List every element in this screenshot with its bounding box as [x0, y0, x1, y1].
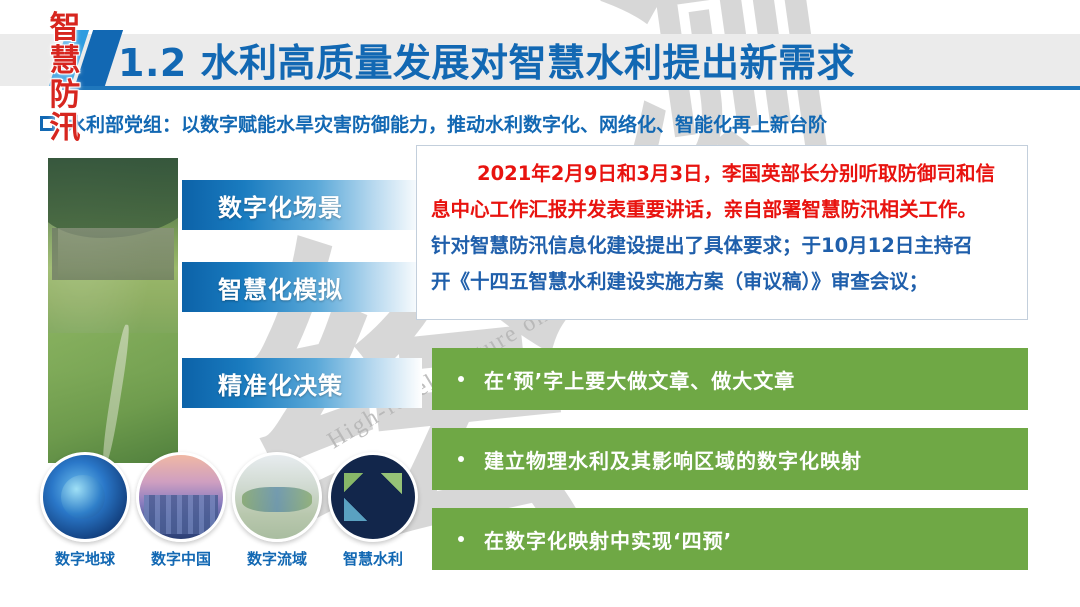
circle-label-3: 数字流域: [232, 548, 322, 574]
announcement-line-2: 息中心工作汇报并发表重要讲话，亲自部署智慧防汛相关工作。: [431, 192, 1015, 228]
blue-bar-label-2: 智慧化模拟: [218, 270, 343, 305]
title-underline: [62, 86, 1080, 90]
green-bar-2[interactable]: 建立物理水利及其影响区域的数字化映射: [432, 428, 1028, 490]
circle-label-4: 智慧水利: [328, 548, 418, 574]
circle-label-2: 数字中国: [136, 548, 226, 574]
photo-caption: 智 慧 防 汛: [0, 12, 130, 146]
green-bar-label-3: 在数字化映射中实现‘四预’: [484, 525, 732, 554]
blue-bar-digital-scene[interactable]: 数字化场景: [182, 180, 422, 230]
announcement-textbox: 2021年2月9日和3月3日，李国英部长分别听取防御司和信 息中心工作汇报并发表…: [416, 145, 1028, 320]
blue-bar-label-3: 精准化决策: [218, 366, 343, 401]
circle-label-row: 数字地球 数字中国 数字流域 智慧水利: [40, 548, 420, 574]
digital-china-city-icon: [136, 452, 226, 542]
bullet-dot-icon: [458, 376, 464, 382]
page-title: 1.2 水利高质量发展对智慧水利提出新需求: [118, 32, 855, 87]
announcement-line-1: 2021年2月9日和3月3日，李国英部长分别听取防御司和信: [431, 156, 1015, 192]
green-bar-label-2: 建立物理水利及其影响区域的数字化映射: [484, 445, 862, 474]
photo-caption-char-4: 汛: [0, 112, 130, 145]
bullet-dot-icon: [458, 536, 464, 542]
subtitle-text: 水利部党组：以数字赋能水旱灾害防御能力，推动水利数字化、网络化、智能化再上新台阶: [67, 110, 827, 137]
blue-bar-smart-simulation[interactable]: 智慧化模拟: [182, 262, 422, 312]
photo-caption-char-3: 防: [0, 79, 130, 112]
slide-canvas: 测 绘 High-level Lecture on Surveying and …: [0, 0, 1080, 607]
photo-village: [52, 228, 174, 280]
circle-label-1: 数字地球: [40, 548, 130, 574]
photo-hill: [48, 158, 178, 238]
smart-water-icon: [328, 452, 418, 542]
green-bar-1[interactable]: 在‘预’字上要大做文章、做大文章: [432, 348, 1028, 410]
announcement-line-4: 开《十四五智慧水利建设实施方案（审议稿）》审查会议；: [431, 264, 1015, 300]
photo-caption-char-1: 智: [0, 12, 130, 45]
bullet-dot-icon: [458, 456, 464, 462]
subtitle-row: 水利部党组：以数字赋能水旱灾害防御能力，推动水利数字化、网络化、智能化再上新台阶: [40, 110, 827, 137]
blue-bar-label-1: 数字化场景: [218, 188, 343, 223]
digital-earth-icon: [40, 452, 130, 542]
circle-icon-row: [40, 452, 420, 548]
flood-photo: [48, 158, 178, 463]
digital-basin-icon: [232, 452, 322, 542]
green-bar-label-1: 在‘预’字上要大做文章、做大文章: [484, 365, 795, 394]
green-bar-3[interactable]: 在数字化映射中实现‘四预’: [432, 508, 1028, 570]
announcement-line-3: 针对智慧防汛信息化建设提出了具体要求；于10月12日主持召: [431, 228, 1015, 264]
photo-caption-char-2: 慧: [0, 45, 130, 78]
blue-bar-precise-decision[interactable]: 精准化决策: [182, 358, 422, 408]
